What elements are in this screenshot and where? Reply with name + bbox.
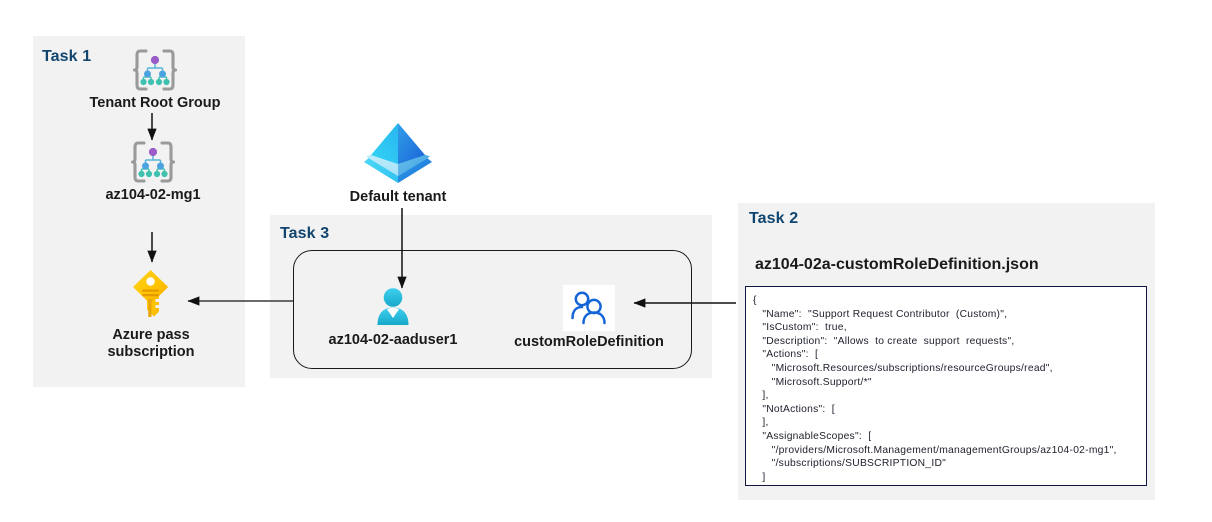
user-icon [371,285,415,329]
node-label-tenant-root-group: Tenant Root Group [89,95,220,112]
task2-label: Task 2 [749,210,798,228]
node-custom-role-definition[interactable]: customRoleDefinition [500,285,678,351]
json-content-box: { "Name": "Support Request Contributor (… [745,286,1147,486]
diagram-canvas: Task 1 Task 3 Task 2 [0,0,1212,522]
node-default-tenant[interactable]: Default tenant [330,120,466,206]
node-label-custom-role-definition: customRoleDefinition [514,334,664,351]
node-aad-user[interactable]: az104-02-aaduser1 [311,285,475,349]
node-tenant-root-group[interactable]: Tenant Root Group [60,48,250,112]
management-group-icon [130,140,176,184]
node-label-management-group: az104-02-mg1 [105,187,200,204]
management-group-icon [132,48,178,92]
role-definition-icon [563,285,615,331]
json-content-text: { "Name": "Support Request Contributor (… [746,287,1146,486]
key-icon [127,268,175,324]
node-subscription[interactable]: Azure pass subscription [78,268,224,362]
node-label-default-tenant: Default tenant [350,189,447,206]
node-label-subscription: Azure pass subscription [78,327,224,362]
node-label-aad-user: az104-02-aaduser1 [329,332,458,349]
json-filename-label: az104-02a-customRoleDefinition.json [755,256,1039,274]
node-management-group[interactable]: az104-02-mg1 [62,140,244,204]
azure-ad-tenant-icon [359,120,437,186]
task3-label: Task 3 [280,225,329,243]
